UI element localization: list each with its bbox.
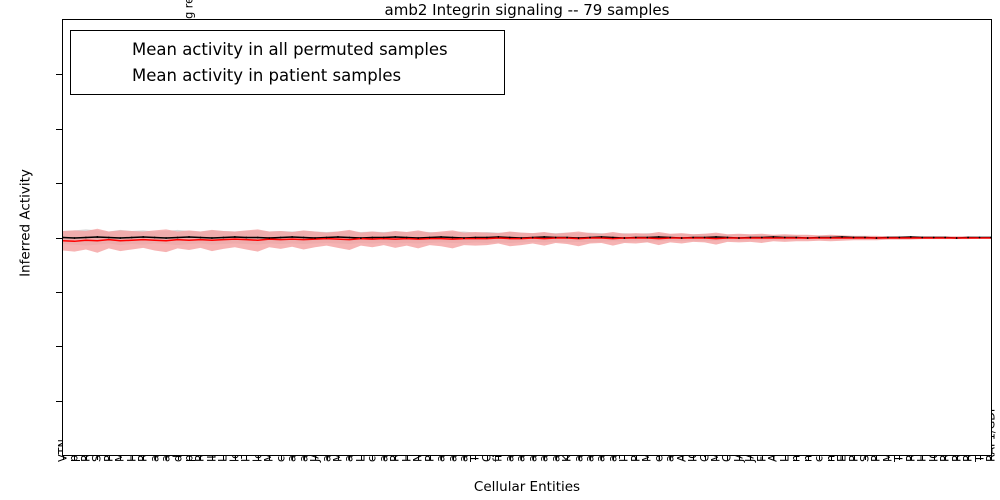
permuted-data-point — [96, 236, 98, 238]
permuted-data-point — [326, 237, 328, 239]
permuted-data-point — [841, 236, 843, 238]
permuted-data-point — [853, 237, 855, 239]
permuted-data-point — [658, 236, 660, 238]
permuted-data-point — [165, 237, 167, 239]
permuted-data-point — [601, 236, 603, 238]
chart-title: amb2 Integrin signaling -- 79 samples — [62, 1, 992, 19]
permuted-data-point — [910, 236, 912, 238]
permuted-data-point — [830, 237, 832, 239]
permuted-data-point — [119, 237, 121, 239]
permuted-data-point — [394, 236, 396, 238]
permuted-data-point — [566, 237, 568, 239]
permuted-data-point — [795, 237, 797, 239]
permuted-data-point — [876, 237, 878, 239]
permuted-data-point — [646, 237, 648, 239]
permuted-data-point — [967, 237, 969, 239]
permuted-data-point — [772, 236, 774, 238]
permuted-data-point — [417, 237, 419, 239]
permuted-data-point — [406, 237, 408, 239]
legend-label-patient: Mean activity in patient samples — [132, 66, 401, 85]
permuted-data-point — [750, 237, 752, 239]
chart-figure: amb2 Integrin signaling -- 79 samples In… — [0, 0, 1000, 500]
permuted-data-point — [532, 237, 534, 239]
permuted-data-point — [784, 237, 786, 239]
permuted-data-point — [635, 237, 637, 239]
permuted-data-point — [188, 236, 190, 238]
permuted-data-point — [681, 237, 683, 239]
permuted-data-point — [933, 237, 935, 239]
permuted-data-point — [314, 237, 316, 239]
permuted-data-point — [864, 237, 866, 239]
permuted-data-point — [818, 237, 820, 239]
permuted-data-point — [761, 237, 763, 239]
permuted-data-point — [463, 237, 465, 239]
permuted-data-point — [738, 237, 740, 239]
permuted-data-point — [486, 237, 488, 239]
permuted-data-point — [108, 237, 110, 239]
permuted-data-point — [715, 236, 717, 238]
permuted-data-point — [245, 237, 247, 239]
permuted-data-point — [349, 237, 351, 239]
permuted-data-point — [692, 237, 694, 239]
permuted-data-point — [223, 237, 225, 239]
permuted-data-point — [291, 236, 293, 238]
permuted-data-point — [979, 237, 981, 239]
y-axis-label: Inferred Activity — [18, 5, 34, 442]
permuted-data-point — [85, 237, 87, 239]
permuted-data-point — [142, 236, 144, 238]
permuted-data-point — [509, 237, 511, 239]
permuted-data-point — [440, 236, 442, 238]
permuted-data-point — [669, 237, 671, 239]
permuted-data-point — [280, 237, 282, 239]
permuted-data-point — [452, 237, 454, 239]
permuted-data-point — [131, 237, 133, 239]
permuted-data-point — [200, 237, 202, 239]
x-axis-label: Cellular Entities — [62, 479, 992, 495]
permuted-data-point — [589, 237, 591, 239]
permuted-data-point — [704, 237, 706, 239]
permuted-data-point — [807, 237, 809, 239]
permuted-data-point — [898, 237, 900, 239]
permuted-data-point — [497, 236, 499, 238]
permuted-data-point — [177, 237, 179, 239]
legend-item-patient: Mean activity in patient samples — [71, 62, 504, 88]
permuted-data-point — [543, 236, 545, 238]
permuted-data-point — [887, 237, 889, 239]
permuted-data-point — [154, 237, 156, 239]
permuted-data-point — [234, 236, 236, 238]
permuted-data-point — [956, 237, 958, 239]
permuted-data-point — [360, 237, 362, 239]
permuted-data-point — [727, 237, 729, 239]
legend-label-permuted: Mean activity in all permuted samples — [132, 40, 448, 59]
permuted-data-point — [429, 237, 431, 239]
permuted-data-point — [383, 237, 385, 239]
permuted-data-point — [257, 237, 259, 239]
permuted-data-point — [337, 236, 339, 238]
permuted-data-point — [74, 237, 76, 239]
permuted-data-point — [211, 237, 213, 239]
permuted-data-point — [944, 237, 946, 239]
permuted-data-point — [623, 237, 625, 239]
legend-item-permuted: Mean activity in all permuted samples — [71, 36, 504, 62]
permuted-data-point — [303, 237, 305, 239]
permuted-data-point — [578, 237, 580, 239]
patient-confidence-band — [63, 229, 991, 253]
permuted-data-point — [555, 237, 557, 239]
permuted-data-point — [268, 237, 270, 239]
permuted-data-point — [921, 237, 923, 239]
permuted-data-point — [371, 237, 373, 239]
chart-legend: Mean activity in all permuted samples Me… — [70, 30, 505, 95]
permuted-data-point — [612, 237, 614, 239]
permuted-data-point — [475, 237, 477, 239]
permuted-data-point — [520, 237, 522, 239]
